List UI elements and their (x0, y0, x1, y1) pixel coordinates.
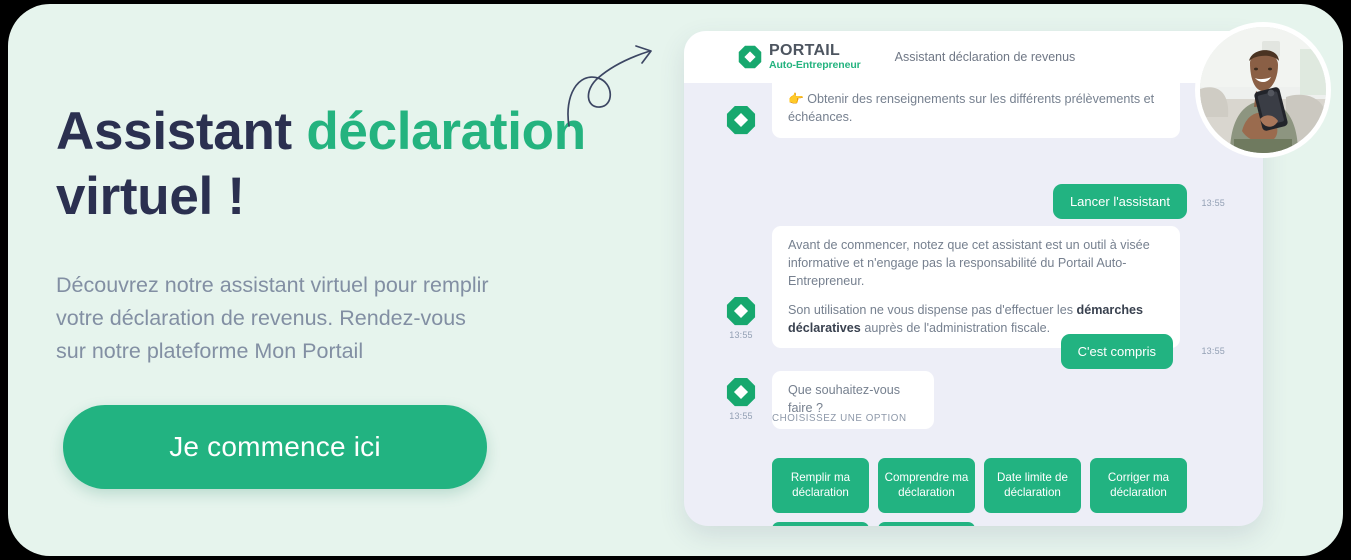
headline-accent: déclaration (306, 102, 585, 161)
choose-option-label: CHOISISSEZ UNE OPTION (772, 413, 907, 424)
portail-octagon-icon (738, 45, 762, 69)
promo-text-column: Assistant déclarationvirtuel ! Découvrez… (56, 100, 656, 367)
user-photo-illustration (1200, 27, 1326, 153)
bot-octagon-icon (726, 296, 756, 326)
brand-wordmark: PORTAIL Auto-Entrepreneur (769, 43, 861, 70)
subcopy-line-2: votre déclaration de revenus. Rendez-vou… (56, 302, 656, 335)
bot-message-1-body: Obtenir des renseignements sur les diffé… (788, 92, 1154, 124)
option-payer-mes-impots[interactable]: Payer mes impôts (772, 522, 869, 526)
option-corriger-ma-declaration[interactable]: Corriger ma déclaration (1090, 458, 1187, 513)
bot-message-disclaimer: Avant de commencer, notez que cet assist… (772, 226, 1180, 348)
disclaimer-para-2-after: auprès de l'administration fiscale. (861, 321, 1050, 335)
option-nouveautes-2023[interactable]: Nouveautés 2023 (878, 522, 975, 526)
user-reply-understood[interactable]: C'est compris (1061, 334, 1173, 369)
user-reply-launch-assistant[interactable]: Lancer l'assistant (1053, 184, 1187, 219)
timestamp-m2: 13:55 (1201, 198, 1225, 208)
chat-header-title: Assistant déclaration de revenus (895, 50, 1076, 64)
headline-part1: Assistant (56, 102, 306, 161)
promo-subcopy: Découvrez notre assistant virtuel pour r… (56, 269, 656, 367)
bot-avatar-2: 13:55 (724, 296, 758, 340)
headline-part2: virtuel ! (56, 167, 245, 226)
bot-message-1-text: 👉 Obtenir des renseignements sur les dif… (788, 91, 1164, 127)
option-remplir-ma-declaration[interactable]: Remplir ma déclaration (772, 458, 869, 513)
brand-logo: PORTAIL Auto-Entrepreneur (738, 43, 861, 70)
bot-octagon-icon (726, 377, 756, 407)
chat-message-list[interactable]: 👉 Obtenir des renseignements sur les dif… (684, 83, 1263, 526)
bot-avatar-3: 13:55 (724, 377, 758, 421)
disclaimer-para-2: Son utilisation ne vous dispense pas d'e… (788, 302, 1164, 338)
bot-avatar-1 (724, 105, 758, 135)
brand-top-label: PORTAIL (769, 43, 861, 59)
bot-octagon-icon (726, 105, 756, 135)
option-date-limite-de-declaration[interactable]: Date limite de déclaration (984, 458, 1081, 513)
start-button[interactable]: Je commence ici (63, 405, 487, 489)
chat-widget: PORTAIL Auto-Entrepreneur Assistant décl… (684, 31, 1263, 526)
timestamp-m5: 13:55 (724, 411, 758, 421)
option-comprendre-ma-declaration[interactable]: Comprendre ma déclaration (878, 458, 975, 513)
timestamp-m3: 13:55 (724, 330, 758, 340)
disclaimer-para-1: Avant de commencer, notez que cet assist… (788, 237, 1164, 291)
timestamp-m4: 13:55 (1201, 346, 1225, 356)
avatar (1195, 22, 1331, 158)
disclaimer-para-2-before: Son utilisation ne vous dispense pas d'e… (788, 303, 1077, 317)
quick-option-list: Remplir ma déclaration Comprendre ma déc… (772, 458, 1192, 526)
brand-sub-label: Auto-Entrepreneur (769, 60, 861, 71)
subcopy-line-3: sur notre plateforme Mon Portail (56, 335, 656, 368)
chat-header: PORTAIL Auto-Entrepreneur Assistant décl… (684, 31, 1263, 83)
promo-banner: Assistant déclarationvirtuel ! Découvrez… (0, 0, 1351, 560)
pointing-hand-icon: 👉 (788, 92, 804, 106)
promo-card: Assistant déclarationvirtuel ! Découvrez… (8, 4, 1343, 556)
page-title: Assistant déclarationvirtuel ! (56, 100, 656, 229)
subcopy-line-1: Découvrez notre assistant virtuel pour r… (56, 269, 656, 302)
bot-message-1: 👉 Obtenir des renseignements sur les dif… (772, 77, 1180, 138)
